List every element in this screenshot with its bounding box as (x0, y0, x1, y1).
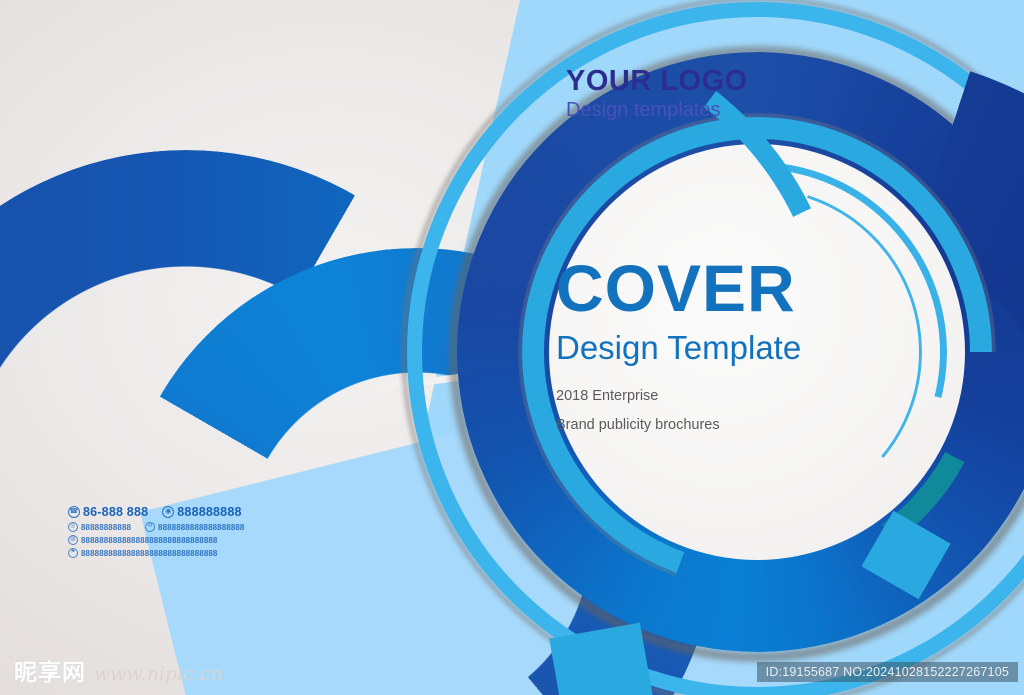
logo-block: YOUR LOGO Design templates (566, 66, 748, 124)
globe-icon: ◎ (68, 522, 78, 532)
contact-row: ⚑888888888888888888888888888888 (68, 548, 244, 558)
cover-line-2: Brand publicity brochures (556, 411, 801, 439)
cover-artwork: YOUR LOGO Design templates COVER Design … (0, 0, 1024, 695)
contact-block: ☎86-888 888◉888888888◎88888888888✉888888… (68, 505, 244, 558)
contact-value: 8888888888888888888 (158, 523, 244, 532)
contact-row: @888888888888888888888888888888 (68, 535, 244, 545)
cover-text-block: COVER Design Template 2018 Enterprise Br… (556, 255, 801, 439)
cover-line-1: 2018 Enterprise (556, 382, 801, 410)
location-icon: ⚑ (68, 548, 78, 558)
mail-icon: ✉ (145, 522, 155, 532)
contact-row: ☎86-888 888◉888888888 (68, 505, 244, 519)
contact-value: 88888888888 (81, 523, 131, 532)
contact-value: 888888888 (177, 505, 241, 519)
contact-row: ◎88888888888✉8888888888888888888 (68, 522, 244, 532)
logo-subtitle: Design templates (566, 97, 748, 124)
contact-value: 888888888888888888888888888888 (81, 549, 217, 558)
cover-subtitle: Design Template (556, 327, 801, 368)
contact-value: 86-888 888 (83, 505, 148, 519)
at-icon: @ (68, 535, 78, 545)
cover-title: COVER (556, 255, 801, 321)
logo-title: YOUR LOGO (566, 66, 748, 96)
phone-icon: ☎ (68, 506, 80, 518)
fax-icon: ◉ (162, 506, 174, 518)
contact-value: 888888888888888888888888888888 (81, 536, 217, 545)
